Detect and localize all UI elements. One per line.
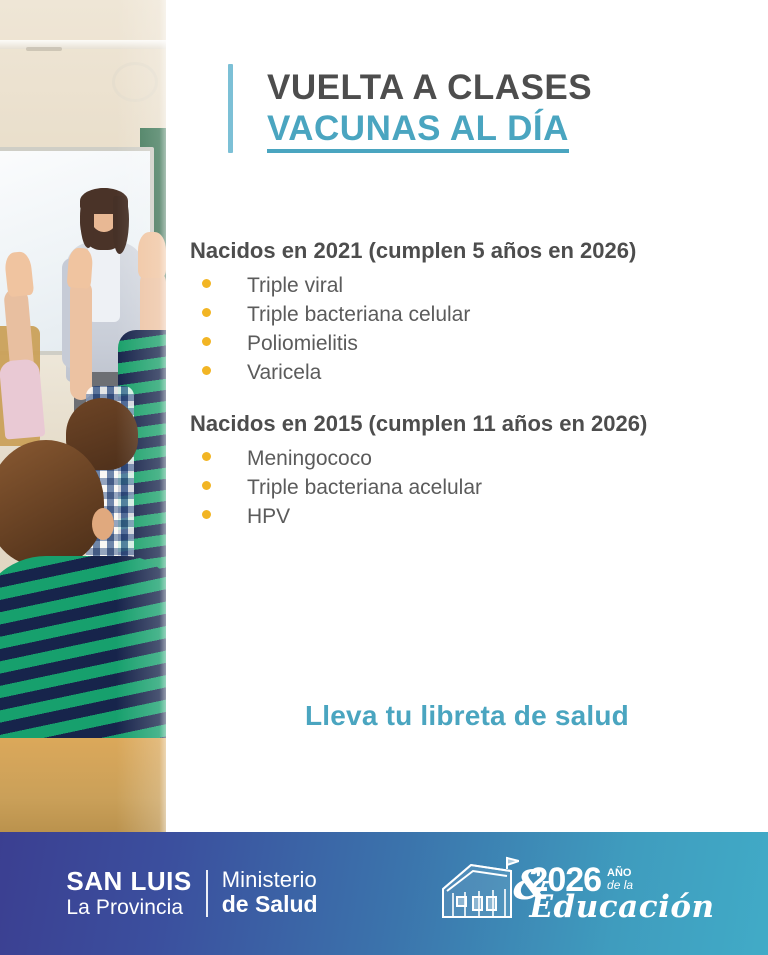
bullet-icon: [202, 481, 211, 490]
ministry-line-1: Ministerio: [222, 868, 318, 892]
ministry-line-2: de Salud: [222, 892, 318, 918]
section-heading: Nacidos en 2021 (cumplen 5 años en 2026): [190, 238, 750, 264]
bullet-icon: [202, 452, 211, 461]
vaccine-name: HPV: [247, 505, 290, 529]
province-subtitle: La Provincia: [66, 896, 191, 920]
province-block: SAN LUIS La Provincia: [66, 868, 205, 920]
vaccine-name: Varicela: [247, 361, 321, 385]
province-name: SAN LUIS: [66, 868, 191, 894]
ministry-block: Ministerio de Salud: [208, 868, 318, 920]
vaccine-sections: Nacidos en 2021 (cumplen 5 años en 2026)…: [190, 238, 750, 555]
script-flourish-icon: &: [513, 866, 549, 906]
headline-accent-bar: [228, 64, 233, 153]
list-item: Poliomielitis: [190, 332, 750, 356]
section-heading: Nacidos en 2015 (cumplen 11 años en 2026…: [190, 411, 750, 437]
education-tagline: AÑO de la: [607, 864, 633, 892]
classroom-photo: [0, 0, 166, 832]
vaccine-name: Triple bacteriana celular: [247, 303, 470, 327]
list-item: Varicela: [190, 361, 750, 385]
vaccine-list-2021: Triple viral Triple bacteriana celular P…: [190, 274, 750, 385]
poster-content: VUELTA A CLASES VACUNAS AL DÍA Nacidos e…: [166, 0, 768, 832]
education-script-word: Educación: [529, 892, 714, 923]
footer-right: & 2026 AÑO de la Educación: [384, 855, 768, 932]
headline-block: VUELTA A CLASES VACUNAS AL DÍA: [228, 64, 592, 153]
bullet-icon: [202, 366, 211, 375]
vaccine-list-2015: Meningococo Triple bacteriana acelular H…: [190, 447, 750, 529]
bullet-icon: [202, 510, 211, 519]
call-to-action-text: Lleva tu libreta de salud: [166, 700, 768, 732]
historic-house-icon: [437, 855, 519, 932]
headline-line-2: VACUNAS AL DÍA: [267, 109, 569, 153]
list-item: HPV: [190, 505, 750, 529]
vaccine-name: Triple viral: [247, 274, 343, 298]
list-item: Meningococo: [190, 447, 750, 471]
vaccine-name: Triple bacteriana acelular: [247, 476, 482, 500]
education-year-logo: & 2026 AÑO de la Educación: [529, 864, 714, 923]
headline-text: VUELTA A CLASES VACUNAS AL DÍA: [267, 64, 592, 153]
list-item: Triple bacteriana acelular: [190, 476, 750, 500]
poster-footer: SAN LUIS La Provincia Ministerio de Salu…: [0, 832, 768, 955]
list-item: Triple bacteriana celular: [190, 303, 750, 327]
list-item: Triple viral: [190, 274, 750, 298]
government-logo: SAN LUIS La Provincia Ministerio de Salu…: [66, 868, 317, 920]
vaccine-name: Poliomielitis: [247, 332, 358, 356]
section-born-2015: Nacidos en 2015 (cumplen 11 años en 2026…: [190, 411, 750, 529]
vaccine-name: Meningococo: [247, 447, 372, 471]
bullet-icon: [202, 337, 211, 346]
section-born-2021: Nacidos en 2021 (cumplen 5 años en 2026)…: [190, 238, 750, 385]
bullet-icon: [202, 308, 211, 317]
vaccination-campaign-poster: VUELTA A CLASES VACUNAS AL DÍA Nacidos e…: [0, 0, 768, 955]
photo-scene: [0, 0, 166, 832]
footer-left: SAN LUIS La Provincia Ministerio de Salu…: [0, 868, 384, 920]
headline-line-1: VUELTA A CLASES: [267, 68, 592, 107]
bullet-icon: [202, 279, 211, 288]
photo-edge-fade: [0, 0, 166, 832]
logo-divider: [206, 870, 208, 918]
